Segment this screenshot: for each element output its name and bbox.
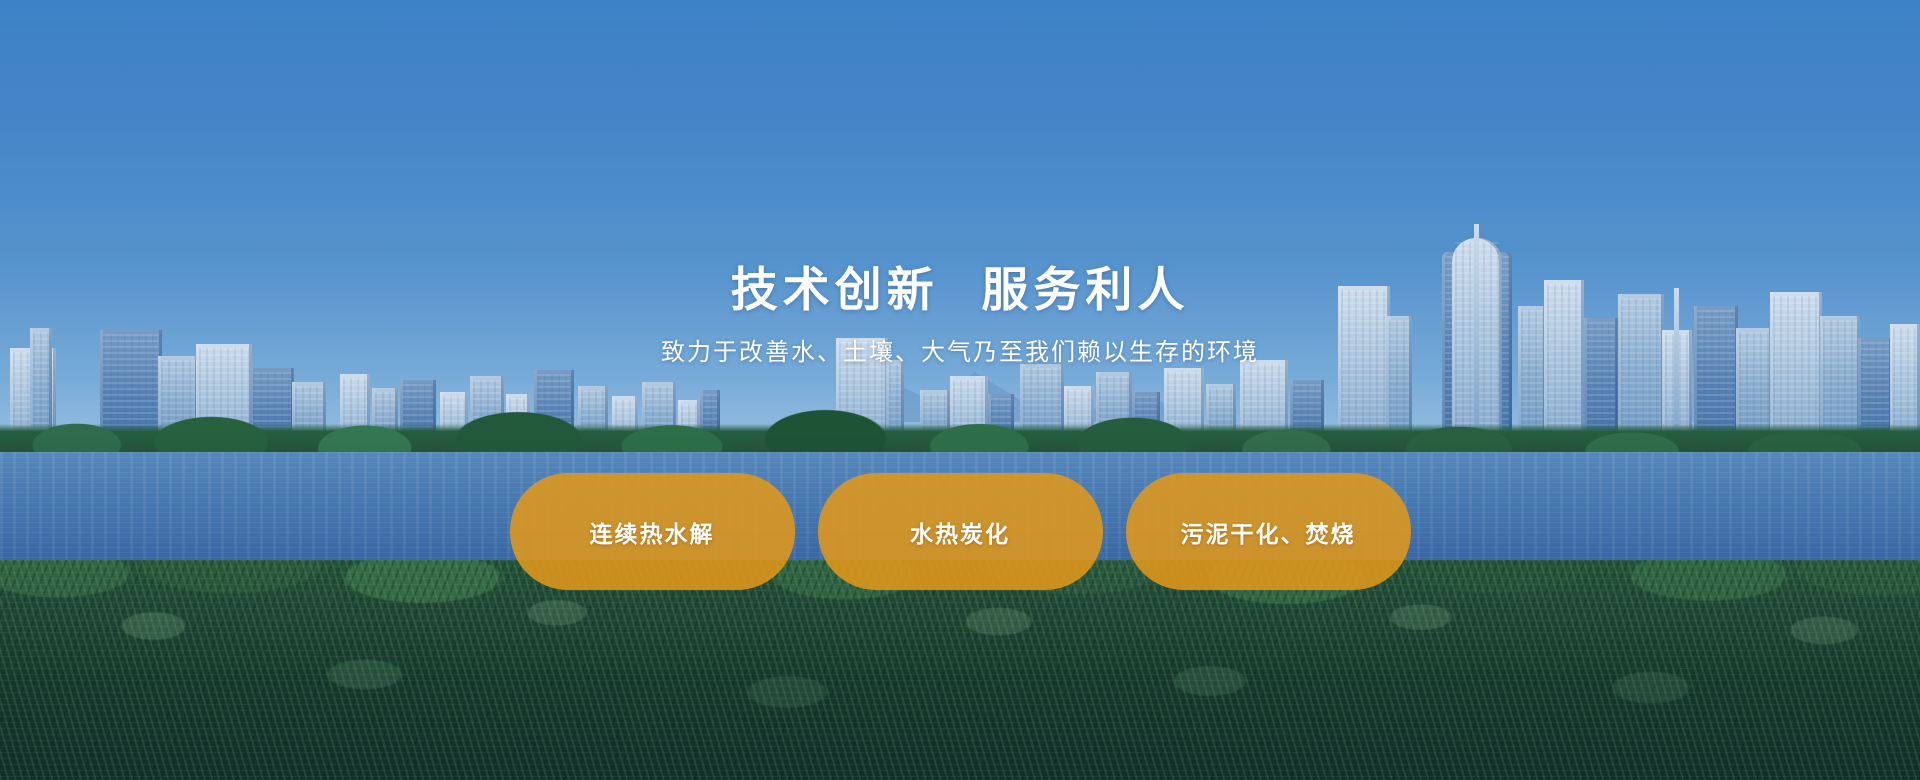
service-pill-row: 连续热水解 水热炭化 污泥干化、焚烧 <box>0 473 1920 590</box>
page-subtitle: 致力于改善水、土壤、大气乃至我们赖以生存的环境 <box>661 337 1259 368</box>
pill-button-continuous-thermal-hydrolysis[interactable]: 连续热水解 <box>510 473 795 590</box>
pill-label: 污泥干化、焚烧 <box>1181 515 1356 549</box>
pill-button-hydrothermal-carbonization[interactable]: 水热炭化 <box>818 473 1103 590</box>
pill-button-sludge-drying-incineration[interactable]: 污泥干化、焚烧 <box>1126 473 1411 590</box>
page-title: 技术创新 服务利人 <box>731 263 1190 318</box>
pill-label: 连续热水解 <box>590 515 715 549</box>
hero-banner: 技术创新 服务利人 致力于改善水、土壤、大气乃至我们赖以生存的环境 连续热水解 … <box>0 0 1920 780</box>
pill-label: 水热炭化 <box>910 515 1010 549</box>
hero-content: 技术创新 服务利人 致力于改善水、土壤、大气乃至我们赖以生存的环境 <box>0 0 1920 780</box>
